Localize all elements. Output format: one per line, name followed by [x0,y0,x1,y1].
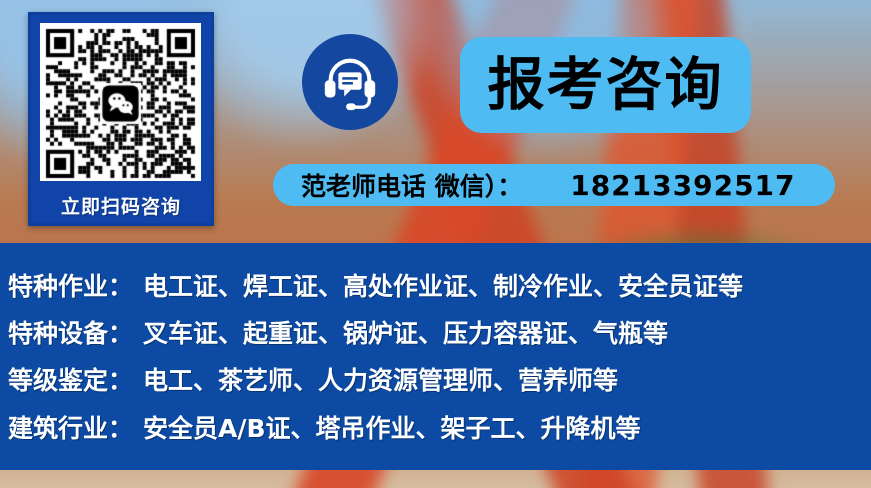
info-line-1-items: 电工证、焊工证、高处作业证、制冷作业、安全员证等 [143,272,743,301]
info-line-2: 特种设备：叉车证、起重证、锅炉证、压力容器证、气瓶等 [8,314,668,350]
promo-poster: 立即扫码咨询 报考咨询 范老师电话 微信）： 18213392517 特种作业：… [0,0,871,488]
info-panel: 特种作业：电工证、焊工证、高处作业证、制冷作业、安全员证等 特种设备：叉车证、起… [0,243,871,470]
info-line-3-label: 等级鉴定： [8,366,133,395]
phone-label: 范老师电话 微信）： [301,167,522,203]
info-line-2-items: 叉车证、起重证、锅炉证、压力容器证、气瓶等 [143,319,668,348]
qr-code-image[interactable] [40,23,201,181]
phone-number[interactable]: 18213392517 [570,169,795,202]
info-line-3: 等级鉴定：电工、茶艺师、人力资源管理师、营养师等 [8,361,618,397]
info-line-4-items: 安全员A/B证、塔吊作业、架子工、升降机等 [143,414,641,443]
title-pill: 报考咨询 [460,37,751,133]
info-line-3-items: 电工、茶艺师、人力资源管理师、营养师等 [143,366,618,395]
qr-code-card[interactable]: 立即扫码咨询 [28,12,214,226]
info-line-2-label: 特种设备： [8,319,133,348]
headset-badge [302,34,398,130]
qr-code-canvas [40,23,201,181]
headset-chat-icon [319,51,381,113]
info-line-4: 建筑行业：安全员A/B证、塔吊作业、架子工、升降机等 [8,409,641,445]
title-pill-label: 报考咨询 [488,57,724,114]
phone-pill[interactable]: 范老师电话 微信）： 18213392517 [273,164,835,206]
info-line-4-label: 建筑行业： [8,414,133,443]
info-line-1: 特种作业：电工证、焊工证、高处作业证、制冷作业、安全员证等 [8,267,743,303]
qr-caption: 立即扫码咨询 [31,192,211,219]
info-line-1-label: 特种作业： [8,272,133,301]
